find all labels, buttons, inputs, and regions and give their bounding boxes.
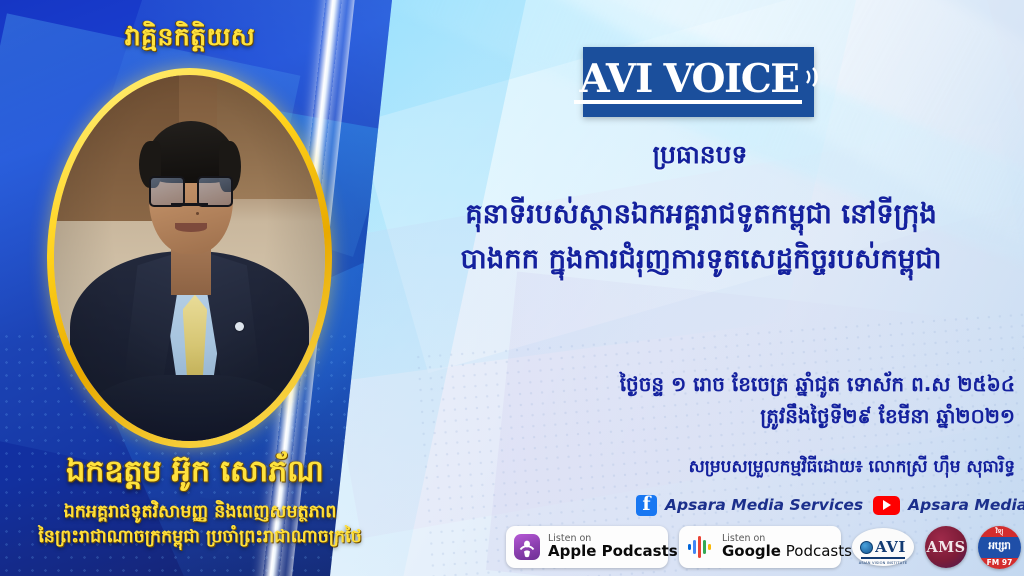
google-podcasts-icon [687,535,714,559]
facebook-link[interactable]: Apsara Media Services [636,495,863,516]
portrait-vignette [54,75,325,441]
radio-logo-name: អប្សរា [978,537,1021,558]
youtube-channel-name: Apsara Media Services [908,496,1024,514]
date-gregorian: ត្រូវនឹងថ្ងៃទី២៩ ខែមីនា ឆ្នាំ២០២១ [420,400,1015,432]
avi-logo-underline [861,557,905,559]
logo-text-voice: VOICE [658,60,801,105]
google-podcasts-badge[interactable]: Listen on Google Podcasts [679,526,841,568]
portrait-image [54,75,325,441]
google-badge-title: Google Podcasts [722,544,852,560]
broadcast-date: ថ្ងៃចន្ទ ១ រោច ខែចេត្រ ឆ្នាំជូត ទោស័ក ព.… [420,368,1015,432]
facebook-page-name: Apsara Media Services [665,496,863,514]
google-badge-suffix: Podcasts [781,542,852,560]
host-credit: សម្របសម្រួលកម្មវិធីដោយ៖ លោកស្រី ហ៊ឹម សុធ… [420,456,1015,481]
avi-logo-subtitle: ASIAN VISION INSTITUTE [852,561,914,565]
speaker-portrait [47,68,332,448]
social-links-row: Apsara Media Services Apsara Media Servi… [636,492,1018,518]
banner-root: វាគ្មិនកិត្តិយស [0,0,1024,576]
apple-podcasts-badge[interactable]: Listen on Apple Podcasts [506,526,668,568]
facebook-icon [636,495,657,516]
apsara-radio-logo[interactable]: វិទ្យុ អប្សរា FM 97 [978,526,1021,569]
logo-text-avi: AVI [574,60,659,105]
avi-logo-text: AVI [875,538,906,556]
speaker-name: ឯកឧត្តម អ៊ូក សោភ័ណ [0,452,390,496]
google-badge-brand: Google [722,542,781,560]
radio-logo-frequency: FM 97 [978,557,1021,568]
youtube-link[interactable]: Apsara Media Services [873,496,1024,515]
speaker-role: ឯកអគ្គរាជទូតវិសាមញ្ញ និងពេញសមត្ថភាព នៃព្… [0,500,400,551]
speaker-role-line-2: នៃព្រះរាជាណាចក្រកម្ពុជា ប្រចាំព្រះរាជាណា… [0,525,400,550]
globe-icon [860,541,873,554]
podcast-badge-row: Listen on Apple Podcasts Listen on Googl… [506,524,1018,570]
topic-title-line-2: បាងកក ក្នុងការជំរុញការទូតសេដ្ឋកិច្ចរបស់ក… [378,237,1024,282]
honorary-speaker-label: វាគ្មិនកិត្តិយស [0,22,380,58]
avi-institute-logo[interactable]: AVI ASIAN VISION INSTITUTE [852,528,914,566]
youtube-icon [873,496,900,515]
ams-logo[interactable]: AMS [925,526,967,568]
avi-voice-logo[interactable]: AVI VOICE [583,47,814,117]
apple-badge-title: Apple Podcasts [548,544,678,560]
radio-logo-top-text: វិទ្យុ [978,526,1021,537]
date-lunar: ថ្ងៃចន្ទ ១ រោច ខែចេត្រ ឆ្នាំជូត ទោស័ក ព.… [420,368,1015,400]
topic-title-line-1: គុនាទីរបស់ស្ថានឯកអគ្គរាជទូតកម្ពុជា នៅទីក… [378,192,1024,237]
sound-wave-icon [804,64,824,94]
speaker-role-line-1: ឯកអគ្គរាជទូតវិសាមញ្ញ និងពេញសមត្ថភាព [0,500,400,525]
apple-podcasts-icon [514,534,540,560]
ams-logo-text: AMS [927,539,966,556]
topic-title: គុនាទីរបស់ស្ថានឯកអគ្គរាជទូតកម្ពុជា នៅទីក… [378,192,1024,281]
topic-label: ប្រធានបទ [380,140,1020,176]
